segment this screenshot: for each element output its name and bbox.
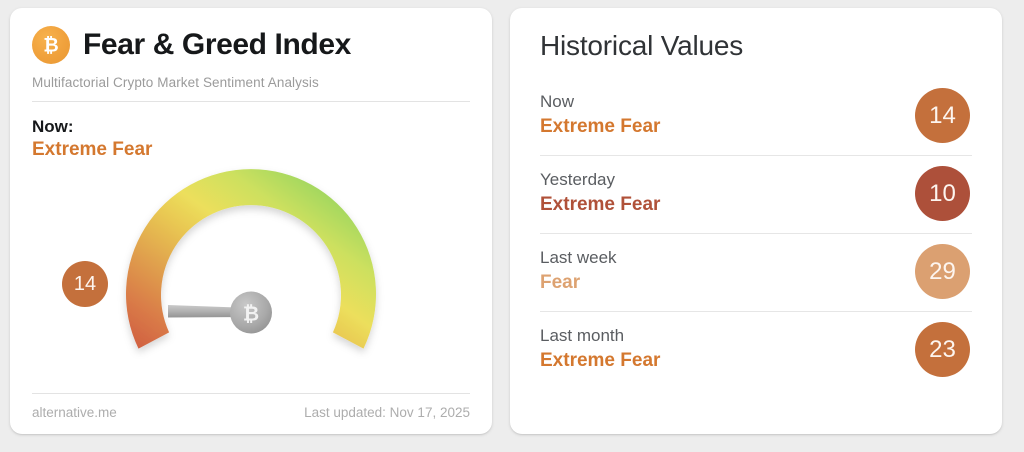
- row-value-badge: 29: [915, 244, 970, 299]
- historical-values-list: Now Extreme Fear 14 Yesterday Extreme Fe…: [540, 78, 972, 389]
- svg-text:₿: ₿: [243, 303, 259, 325]
- svg-text:₿: ₿: [43, 36, 58, 57]
- list-item[interactable]: Now Extreme Fear 14: [540, 78, 972, 156]
- row-value-text: 29: [929, 260, 956, 284]
- source-label[interactable]: alternative.me: [32, 405, 117, 420]
- gauge-value-text: 14: [74, 274, 96, 294]
- page-title: Fear & Greed Index: [83, 30, 351, 60]
- list-item[interactable]: Last month Extreme Fear 23: [540, 312, 972, 389]
- bitcoin-icon: ₿: [32, 26, 70, 64]
- now-label: Now:: [32, 116, 470, 137]
- page-subtitle: Multifactorial Crypto Market Sentiment A…: [32, 75, 470, 90]
- header-divider: [32, 101, 470, 102]
- last-updated-label: Last updated: Nov 17, 2025: [304, 405, 470, 420]
- now-classification: Extreme Fear: [32, 138, 470, 163]
- footer-divider: [32, 393, 470, 394]
- card-header: ₿ Fear & Greed Index: [32, 26, 470, 64]
- row-value-badge: 14: [915, 88, 970, 143]
- row-value-text: 23: [929, 338, 956, 362]
- gauge-value-badge: 14: [62, 261, 108, 307]
- list-item[interactable]: Yesterday Extreme Fear 10: [540, 156, 972, 234]
- card-footer: alternative.me Last updated: Nov 17, 202…: [32, 393, 470, 420]
- row-period: Last week: [540, 248, 617, 268]
- row-period: Now: [540, 92, 660, 112]
- fear-greed-gauge: ₿: [86, 165, 416, 379]
- list-item[interactable]: Last week Fear 29: [540, 234, 972, 312]
- row-value-text: 14: [929, 104, 956, 128]
- row-value-badge: 10: [915, 166, 970, 221]
- fear-greed-index-card: ₿ Fear & Greed Index Multifactorial Cryp…: [10, 8, 492, 434]
- row-classification: Extreme Fear: [540, 116, 660, 139]
- gauge-area: ₿ 14: [32, 165, 470, 379]
- row-classification: Extreme Fear: [540, 350, 660, 373]
- row-classification: Extreme Fear: [540, 194, 660, 217]
- row-period: Yesterday: [540, 170, 660, 190]
- current-reading: Now: Extreme Fear: [32, 116, 470, 163]
- row-period: Last month: [540, 326, 660, 346]
- row-value-badge: 23: [915, 322, 970, 377]
- historical-values-title: Historical Values: [540, 32, 972, 60]
- row-value-text: 10: [929, 182, 956, 206]
- gauge-needle: ₿: [168, 291, 272, 333]
- row-classification: Fear: [540, 272, 617, 295]
- historical-values-card: Historical Values Now Extreme Fear 14 Ye…: [510, 8, 1002, 434]
- fear-greed-dashboard: ₿ Fear & Greed Index Multifactorial Cryp…: [0, 0, 1024, 452]
